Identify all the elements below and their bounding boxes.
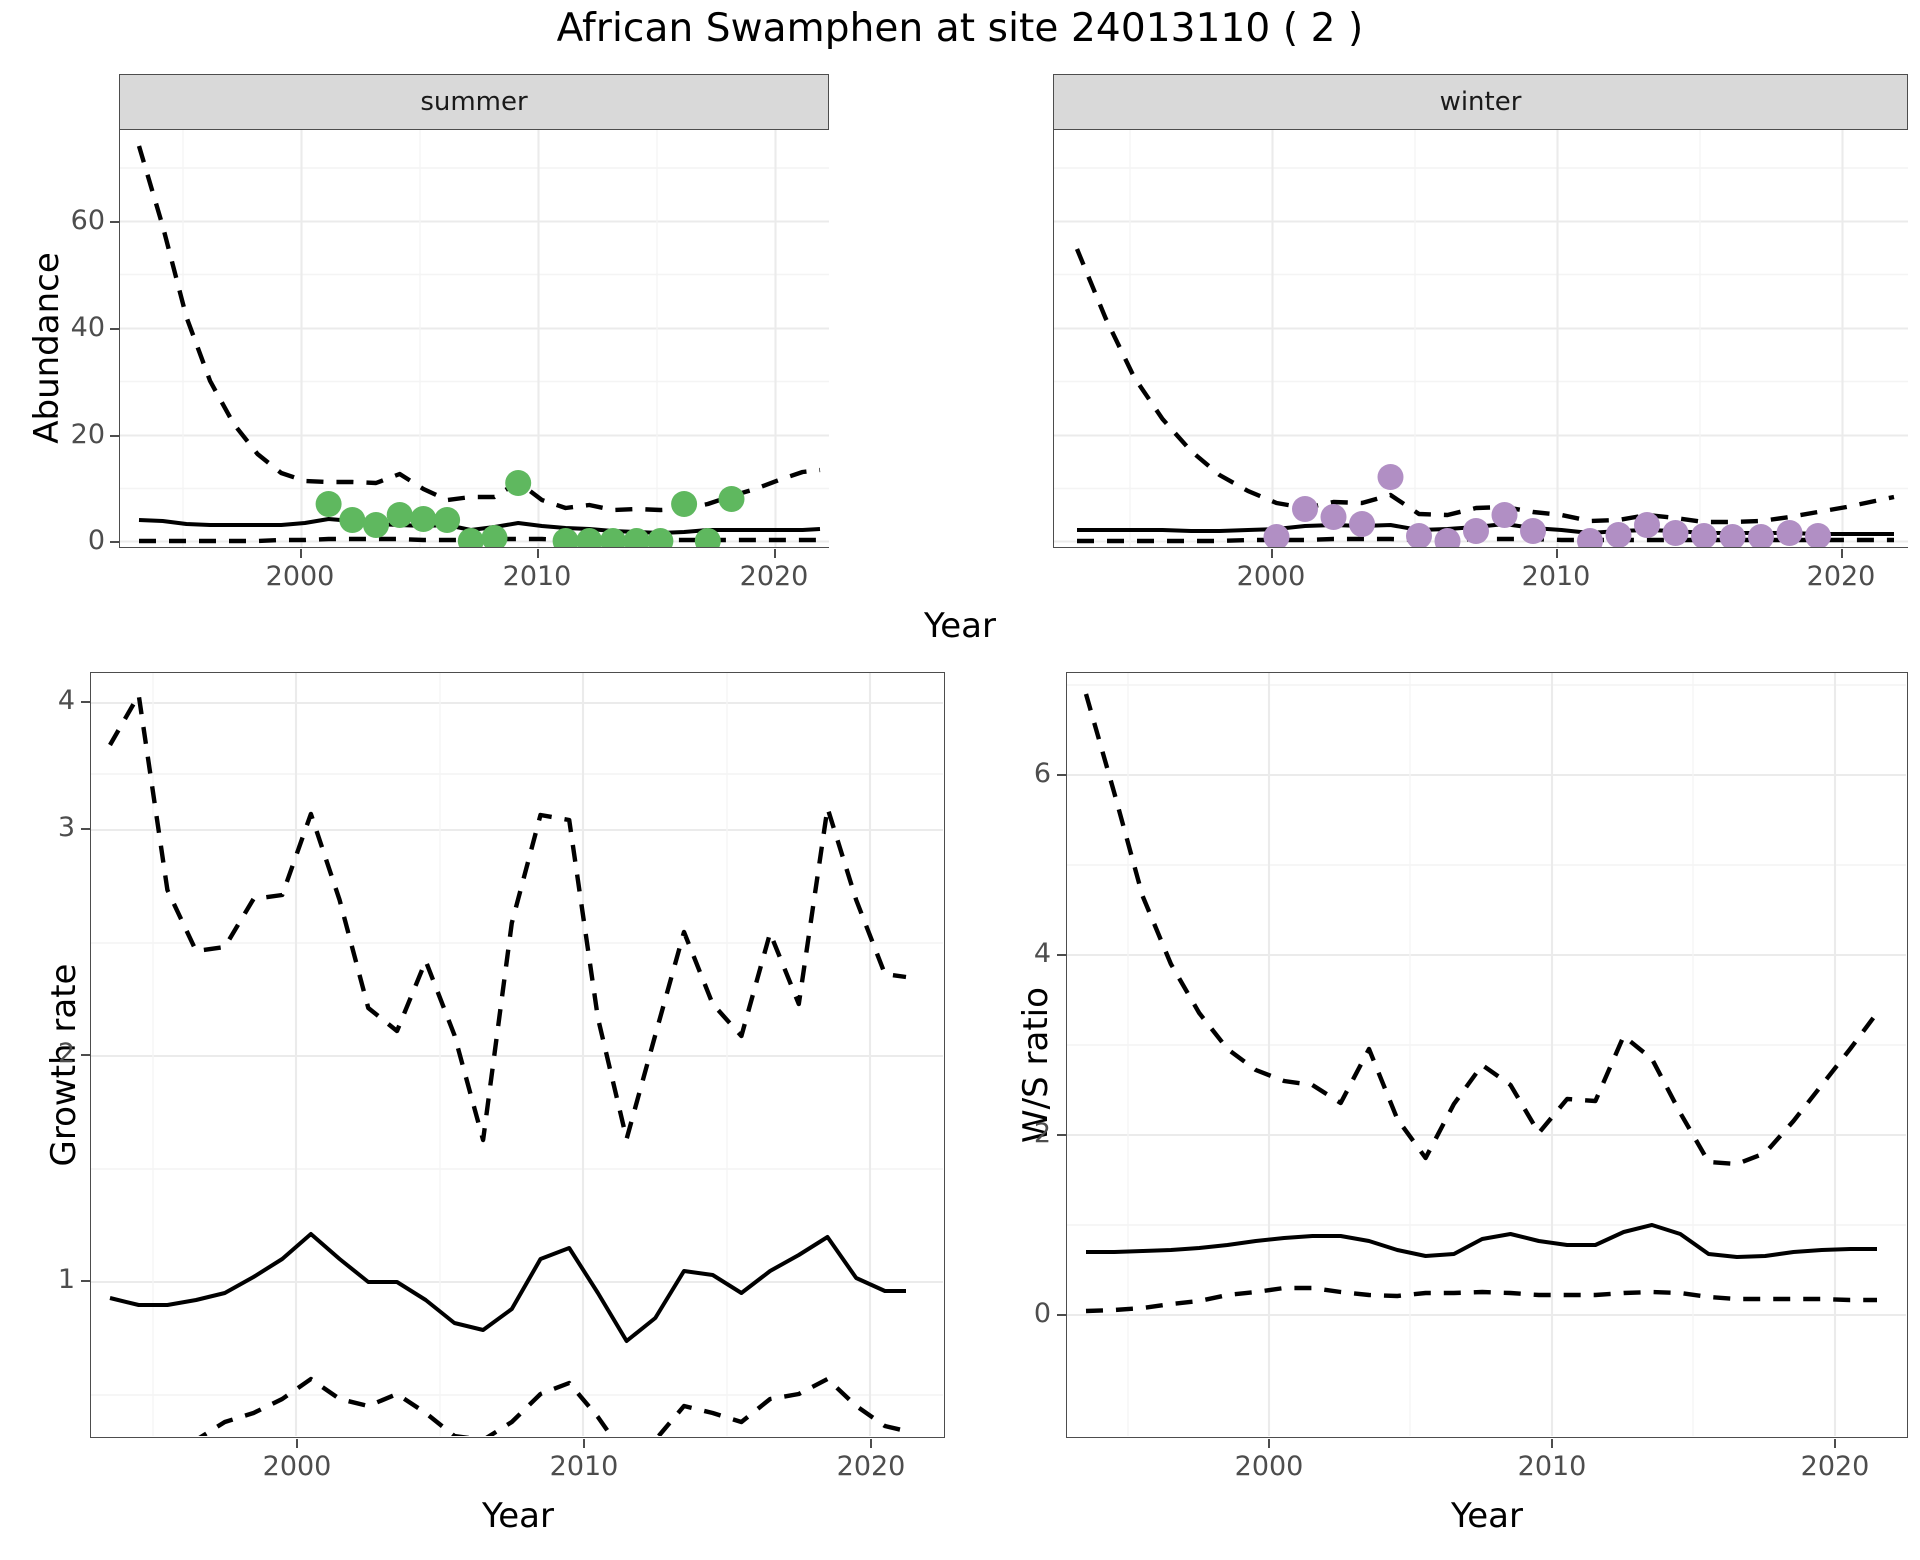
growth-ytick-3: 3 [20,812,75,843]
abundance-tick-60 [110,221,119,223]
winter-upper-ci-line [1077,249,1894,522]
abundance-summer-svg [120,130,829,548]
ws-mean-line [1086,1225,1877,1257]
abundance-winter-panel [1053,130,1908,548]
growth-rate-panel [90,672,945,1438]
abundance-ytick-0: 0 [50,525,105,556]
growth-xtick-label-2020: 2020 [801,1451,941,1482]
gridlines-summer [120,130,829,548]
summer-xtick-label-2020: 2020 [704,561,844,592]
growth-tick-1 [81,1280,90,1282]
abundance-tick-0 [110,541,119,543]
winter-observed-points [1264,464,1832,548]
ws-xtick-label-2010: 2010 [1482,1451,1622,1482]
ws-xtick-2010 [1551,1439,1553,1448]
ws-lower-ci-line [1086,1288,1877,1311]
figure-root: African Swamphen at site 24013110 ( 2 ) … [0,0,1920,1560]
growth-lower-ci-line [110,1379,906,1436]
facet-strip-label-summer: summer [420,87,527,117]
ws-ratio-panel [1066,672,1908,1438]
abundance-ytick-20: 20 [50,419,105,450]
ws-ratio-svg [1067,673,1906,1436]
growth-tick-3 [81,828,90,830]
growth-xtick-label-2000: 2000 [227,1451,367,1482]
summer-xtick-label-2010: 2010 [467,561,607,592]
winter-xtick-2020 [1841,549,1843,558]
growth-ytick-2: 2 [20,1038,75,1069]
gridlines-winter [1054,130,1908,548]
facet-strip-label-winter: winter [1440,87,1522,117]
growth-xtick-2000 [296,1439,298,1448]
facet-strip-winter: winter [1053,74,1908,130]
ws-upper-ci-line [1086,694,1877,1164]
summer-xtick-2010 [537,549,539,558]
ws-tick-0 [1057,1314,1066,1316]
ws-xtick-label-2020: 2020 [1765,1451,1905,1482]
growth-xtick-label-2010: 2010 [514,1451,654,1482]
abundance-ytick-60: 60 [50,205,105,236]
ws-tick-4 [1057,954,1066,956]
abundance-winter-svg [1054,130,1908,548]
growth-tick-2 [81,1054,90,1056]
winter-xtick-label-2000: 2000 [1201,561,1341,592]
ws-tick-6 [1057,774,1066,776]
winter-xtick-2000 [1271,549,1273,558]
abundance-x-axis-label: Year [810,606,1110,646]
ws-ratio-x-axis-label: Year [1337,1496,1637,1536]
figure-title: African Swamphen at site 24013110 ( 2 ) [0,6,1920,51]
ws-ytick-0: 0 [996,1298,1051,1329]
ws-xtick-2000 [1268,1439,1270,1448]
abundance-tick-40 [110,328,119,330]
winter-xtick-label-2020: 2020 [1771,561,1911,592]
ws-xtick-2020 [1834,1439,1836,1448]
abundance-tick-20 [110,435,119,437]
summer-mean-line [139,519,820,533]
abundance-ytick-40: 40 [50,312,105,343]
ws-ytick-4: 4 [996,938,1051,969]
gridlines-ws [1067,673,1906,1436]
winter-xtick-2010 [1556,549,1558,558]
ws-ytick-2: 2 [996,1118,1051,1149]
growth-upper-ci-line [110,695,906,1140]
abundance-summer-panel [119,130,829,548]
growth-rate-x-axis-label: Year [368,1496,668,1536]
facet-strip-summer: summer [119,74,829,130]
growth-ytick-4: 4 [20,685,75,716]
ws-xtick-label-2000: 2000 [1199,1451,1339,1482]
winter-xtick-label-2010: 2010 [1486,561,1626,592]
growth-xtick-2020 [870,1439,872,1448]
gridlines-growth [91,673,943,1436]
growth-xtick-2010 [583,1439,585,1448]
growth-ytick-1: 1 [20,1264,75,1295]
summer-xtick-2020 [774,549,776,558]
ws-ytick-6: 6 [996,758,1051,789]
summer-xtick-2000 [300,549,302,558]
ws-tick-2 [1057,1134,1066,1136]
growth-rate-svg [91,673,943,1436]
growth-tick-4 [81,701,90,703]
summer-xtick-label-2000: 2000 [230,561,370,592]
growth-mean-line [110,1234,906,1341]
